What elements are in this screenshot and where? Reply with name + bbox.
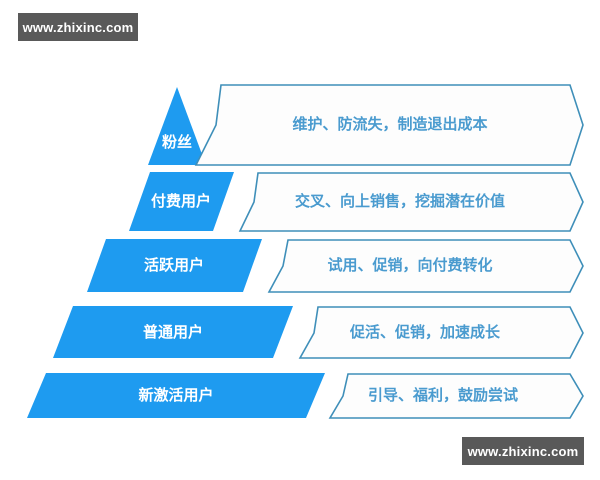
pyramid-level-4: 普通用户 <box>53 306 293 358</box>
pyramid-level-4-label: 普通用户 <box>143 323 203 341</box>
strategy-arrow-5-label: 引导、福利，鼓励尝试 <box>368 386 518 404</box>
pyramid-shape-1 <box>148 87 206 165</box>
strategy-arrow-1: 维护、防流失，制造退出成本 <box>196 85 583 165</box>
strategy-arrow-5: 引导、福利，鼓励尝试 <box>330 374 583 418</box>
strategy-arrow-4-label: 促活、促销，加速成长 <box>349 323 501 341</box>
pyramid-level-5-label: 新激活用户 <box>138 386 213 404</box>
pyramid-diagram: 粉丝 付费用户 活跃用户 普通用户 新激活用户 维护、防流失，制造退出成本 交叉… <box>0 0 600 480</box>
strategy-arrow-3: 试用、促销，向付费转化 <box>269 240 583 292</box>
strategy-arrow-1-label: 维护、防流失，制造退出成本 <box>292 115 487 133</box>
strategy-arrow-4: 促活、促销，加速成长 <box>300 307 583 358</box>
strategy-arrow-2-label: 交叉、向上销售，挖掘潜在价值 <box>295 192 505 210</box>
pyramid-level-1-label: 粉丝 <box>162 133 192 151</box>
pyramid-level-2: 付费用户 <box>129 172 234 231</box>
pyramid-level-3: 活跃用户 <box>87 239 262 292</box>
pyramid-level-2-label: 付费用户 <box>151 192 211 210</box>
pyramid-level-1: 粉丝 <box>148 87 206 165</box>
pyramid-level-3-label: 活跃用户 <box>144 256 204 274</box>
strategy-arrow-3-label: 试用、促销，向付费转化 <box>327 256 492 274</box>
pyramid-level-5: 新激活用户 <box>27 373 325 418</box>
strategy-arrow-2: 交叉、向上销售，挖掘潜在价值 <box>240 173 583 231</box>
